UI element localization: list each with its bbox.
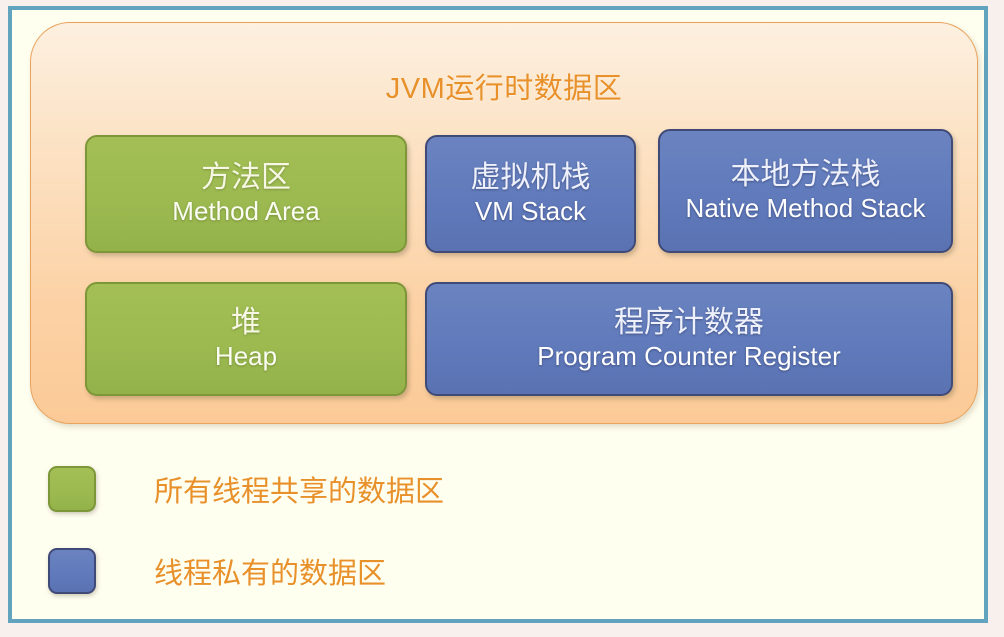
memory-box-vm-stack-cn-label: 虚拟机栈 (471, 161, 591, 196)
legend-swatch-shared-icon (48, 466, 96, 512)
memory-box-method-area: 方法区 Method Area (85, 135, 407, 253)
memory-box-method-area-en-label: Method Area (166, 196, 325, 227)
legend-item-private: 线程私有的数据区 (48, 530, 648, 612)
diagram-canvas: JVM运行时数据区 方法区 Method Area 虚拟机栈 VM Stack … (12, 10, 984, 619)
memory-box-method-area-cn-label: 方法区 (201, 161, 291, 196)
memory-box-heap-en-label: Heap (209, 341, 283, 372)
memory-box-vm-stack: 虚拟机栈 VM Stack (425, 135, 636, 253)
memory-box-native-method-stack: 本地方法栈 Native Method Stack (658, 129, 953, 253)
legend-swatch-private-icon (48, 548, 96, 594)
memory-box-heap: 堆 Heap (85, 282, 407, 396)
legend-item-shared: 所有线程共享的数据区 (48, 448, 648, 530)
jvm-runtime-data-area-title: JVM运行时数据区 (31, 65, 977, 107)
memory-box-heap-cn-label: 堆 (231, 306, 261, 341)
memory-box-program-counter-register: 程序计数器 Program Counter Register (425, 282, 953, 396)
diagram-frame: JVM运行时数据区 方法区 Method Area 虚拟机栈 VM Stack … (8, 6, 988, 623)
memory-box-program-counter-register-en-label: Program Counter Register (531, 341, 846, 372)
memory-box-program-counter-register-cn-label: 程序计数器 (614, 306, 764, 341)
memory-box-native-method-stack-cn-label: 本地方法栈 (731, 158, 881, 193)
legend-label-shared: 所有线程共享的数据区 (154, 468, 444, 510)
legend: 所有线程共享的数据区 线程私有的数据区 (48, 448, 648, 612)
legend-label-private: 线程私有的数据区 (154, 550, 386, 592)
jvm-runtime-data-area-container: JVM运行时数据区 方法区 Method Area 虚拟机栈 VM Stack … (30, 22, 978, 424)
memory-box-vm-stack-en-label: VM Stack (469, 196, 592, 227)
memory-box-native-method-stack-en-label: Native Method Stack (680, 193, 932, 224)
